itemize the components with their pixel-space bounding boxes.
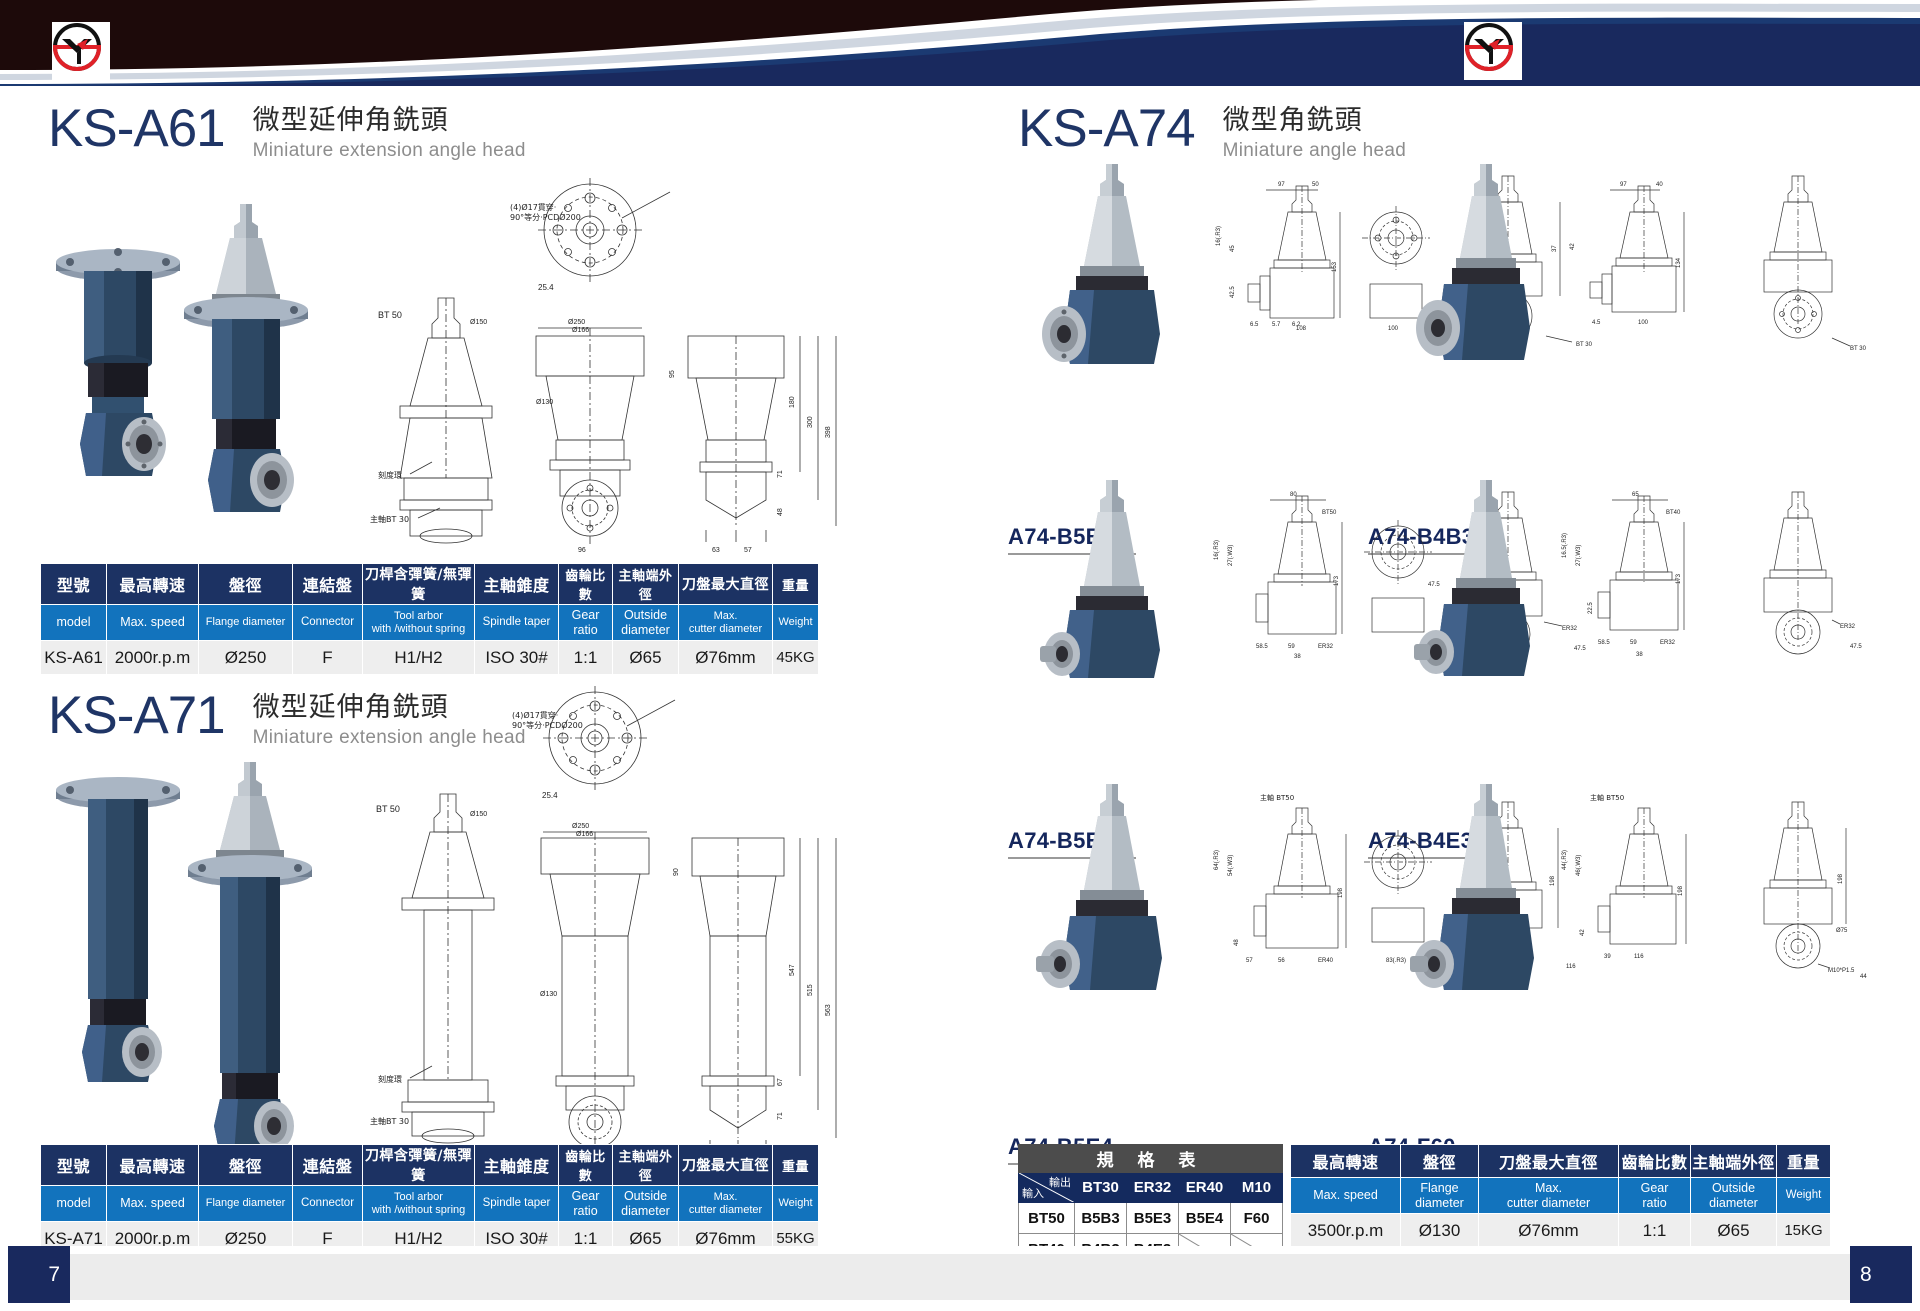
- header-cn-connector: 連結盤: [293, 1145, 363, 1186]
- table-header-row-en: Max. speed Flange diameter Max. cutter d…: [1291, 1178, 1831, 1214]
- header-cn-spindle-taper: 主軸錐度: [475, 564, 559, 605]
- product-title-ks-a74: KS-A74 微型角銑頭 Miniature angle head: [1018, 102, 1406, 162]
- value-max-cutter: Ø76mm: [679, 641, 773, 675]
- svg-text:153: 153: [1332, 261, 1338, 272]
- svg-text:63: 63: [712, 547, 720, 554]
- svg-text:80: 80: [1290, 492, 1297, 498]
- header-cn-tool-arbor: 刀桿含彈簧/無彈簧: [363, 1145, 475, 1186]
- svg-text:134: 134: [1676, 257, 1682, 268]
- svg-text:97: 97: [1278, 182, 1285, 188]
- variant-drawing-a74-f60: 主軸 BT50 198 44(.R3) 46(.W3) 42 116 39: [1560, 786, 1740, 1006]
- svg-text:Ø130: Ø130: [536, 399, 553, 406]
- svg-text:47.5: 47.5: [1850, 644, 1862, 650]
- header-banner: [0, 0, 1920, 86]
- spec-table-ks-a74: 最高轉速 盤徑 刀盤最大直徑 齒輪比數 主軸端外徑 重量 Max. speed …: [1290, 1144, 1831, 1248]
- value-model: KS-A61: [41, 641, 107, 675]
- table-header-row-cn: 最高轉速 盤徑 刀盤最大直徑 齒輪比數 主軸端外徑 重量: [1291, 1145, 1831, 1178]
- header-en-outside-dia: Outside diameter: [1691, 1178, 1777, 1214]
- header-cn-max-speed: 最高轉速: [1291, 1145, 1401, 1178]
- footer-bar: [60, 1254, 1860, 1300]
- svg-text:BT40: BT40: [1666, 510, 1681, 516]
- svg-text:Ø75: Ø75: [1836, 928, 1848, 934]
- svg-text:Ø250: Ø250: [568, 319, 585, 326]
- value-weight: 15KG: [1777, 1214, 1831, 1248]
- value-connector: F: [293, 641, 363, 675]
- product-name-cn: 微型延伸角銑頭: [253, 104, 526, 138]
- svg-text:刻度環: 刻度環: [378, 470, 402, 480]
- svg-text:398: 398: [825, 426, 832, 438]
- header-cn-spindle-taper: 主軸錐度: [475, 1145, 559, 1186]
- variant-drawing-a74-b4e3: 65 BT40 173 16.5(.R3) 27(.W3) 58.5 59 ER…: [1560, 486, 1740, 696]
- product-name-cn: 微型角銑頭: [1223, 104, 1406, 138]
- variant-photo-a74-b5b3: [1028, 158, 1208, 388]
- svg-text:100: 100: [1638, 320, 1649, 326]
- header-cn-gear-ratio: 齒輪比數: [559, 564, 613, 605]
- variant-drawing-a74-b4b3-side: BT 30: [1740, 166, 1910, 376]
- svg-text:6.5: 6.5: [1250, 322, 1259, 328]
- header-cn-model: 型號: [41, 1145, 107, 1186]
- header-en-flange: Flange diameter: [199, 1186, 293, 1222]
- spec-table-ks-a71: 型號 最高轉速 盤徑 連結盤 刀桿含彈簧/無彈簧 主軸錐度 齒輪比數 主軸端外徑…: [40, 1144, 819, 1256]
- technical-drawing-ks-a71: (4)Ø17貫穿‧ 90°等分‧PCDØ200 25.4 BT 50 刻度環 主…: [370, 686, 900, 1156]
- product-photo-ks-a61: [40, 176, 360, 556]
- header-en-max-speed: Max. speed: [107, 605, 199, 641]
- header-en-max-cutter: Max. cutter diameter: [679, 1186, 773, 1222]
- svg-text:58.5: 58.5: [1256, 644, 1268, 650]
- header-cn-weight: 重量: [773, 564, 819, 605]
- svg-text:116: 116: [1634, 954, 1644, 960]
- variant-photo-a74-b5e3: [1028, 474, 1208, 704]
- svg-text:180: 180: [789, 396, 796, 408]
- svg-text:300: 300: [807, 416, 814, 428]
- svg-text:Ø166: Ø166: [576, 831, 593, 838]
- svg-text:515: 515: [807, 984, 814, 996]
- page-number-left: 7: [8, 1246, 70, 1303]
- value-weight: 45KG: [773, 641, 819, 675]
- matrix-title: 規 格 表: [1019, 1145, 1283, 1173]
- matrix-col-m10: M10: [1231, 1173, 1283, 1203]
- header-en-outside-dia: Outside diameter: [613, 1186, 679, 1222]
- spec-table-ks-a61: 型號 最高轉速 盤徑 連結盤 刀桿含彈簧/無彈簧 主軸錐度 齒輪比數 主軸端外徑…: [40, 563, 819, 675]
- svg-text:22.5: 22.5: [1588, 602, 1594, 614]
- svg-text:173: 173: [1334, 575, 1340, 586]
- header-cn-max-cutter: 刀盤最大直徑: [1479, 1145, 1619, 1178]
- matrix-header-row: 輸出 輸入 BT30 ER32 ER40 M10: [1019, 1173, 1283, 1203]
- header-cn-gear-ratio: 齒輪比數: [1619, 1145, 1691, 1178]
- svg-text:90°等分‧PCDØ200: 90°等分‧PCDØ200: [512, 720, 583, 730]
- svg-text:Ø250: Ø250: [572, 823, 589, 830]
- header-cn-tool-arbor: 刀桿含彈簧/無彈簧: [363, 564, 475, 605]
- svg-text:刻度環: 刻度環: [378, 1074, 402, 1084]
- svg-text:198: 198: [1338, 887, 1344, 898]
- matrix-col-bt30: BT30: [1075, 1173, 1127, 1203]
- value-tool-arbor: H1/H2: [363, 641, 475, 675]
- svg-text:46(.W3): 46(.W3): [1576, 855, 1582, 876]
- right-page: KS-A74 微型角銑頭 Miniature angle head: [960, 86, 1920, 1246]
- header-en-max-cutter: Max. cutter diameter: [1479, 1178, 1619, 1214]
- variant-drawing-a74-f60-side: 198 Ø75 M10*P1.5 44: [1740, 782, 1910, 1002]
- variant-photo-a74-b5e4: [1028, 778, 1208, 1018]
- svg-text:71: 71: [777, 470, 784, 478]
- header-cn-max-speed: 最高轉速: [107, 564, 199, 605]
- svg-text:Ø166: Ø166: [572, 327, 589, 334]
- svg-text:90°等分‧PCDØ200: 90°等分‧PCDØ200: [510, 212, 581, 222]
- value-outside-dia: Ø65: [1691, 1214, 1777, 1248]
- header-en-flange: Flange diameter: [1401, 1178, 1479, 1214]
- header-cn-gear-ratio: 齒輪比數: [559, 1145, 613, 1186]
- matrix-axis-corner: 輸出 輸入: [1019, 1173, 1075, 1203]
- svg-text:59: 59: [1288, 644, 1295, 650]
- variant-photo-a74-f60: [1388, 778, 1568, 1018]
- svg-text:54(.W3): 54(.W3): [1228, 855, 1234, 876]
- company-logo-secondary: [1464, 22, 1522, 80]
- value-max-cutter: Ø76mm: [1479, 1214, 1619, 1248]
- product-code: KS-A74: [1018, 102, 1195, 155]
- header-en-max-speed: Max. speed: [1291, 1178, 1401, 1214]
- svg-text:27(.W3): 27(.W3): [1228, 545, 1234, 566]
- svg-text:25.4: 25.4: [542, 791, 558, 800]
- table-header-row-cn: 型號 最高轉速 盤徑 連結盤 刀桿含彈簧/無彈簧 主軸錐度 齒輪比數 主軸端外徑…: [41, 1145, 819, 1186]
- header-en-model: model: [41, 1186, 107, 1222]
- header-cn-flange: 盤徑: [199, 564, 293, 605]
- svg-text:5.7: 5.7: [1272, 322, 1281, 328]
- svg-text:4.5: 4.5: [1592, 320, 1601, 326]
- header-en-connector: Connector: [293, 605, 363, 641]
- logo-icon: [52, 22, 102, 72]
- svg-text:M10*P1.5: M10*P1.5: [1828, 968, 1855, 974]
- value-max-speed: 3500r.p.m: [1291, 1214, 1401, 1248]
- svg-text:27(.W3): 27(.W3): [1576, 545, 1582, 566]
- svg-text:38: 38: [1294, 654, 1301, 660]
- variant-drawing-a74-b4e3-side: ER32 47.5: [1740, 482, 1910, 692]
- value-outside-dia: Ø65: [613, 641, 679, 675]
- product-name-en: Miniature angle head: [1223, 140, 1406, 162]
- svg-text:主軸 BT50: 主軸 BT50: [1590, 793, 1624, 802]
- svg-text:67: 67: [777, 1078, 784, 1086]
- matrix-cell-b5e4: B5E4: [1179, 1203, 1231, 1234]
- header-cn-weight: 重量: [773, 1145, 819, 1186]
- table-row: KS-A61 2000r.p.m Ø250 F H1/H2 ISO 30# 1:…: [41, 641, 819, 675]
- header-cn-flange: 盤徑: [1401, 1145, 1479, 1178]
- header-cn-model: 型號: [41, 564, 107, 605]
- svg-text:108: 108: [1296, 326, 1307, 332]
- svg-text:(4)Ø17貫穿‧: (4)Ø17貫穿‧: [510, 202, 556, 212]
- svg-text:64(.R3): 64(.R3): [1214, 850, 1220, 870]
- header-en-tool-arbor: Tool arbor with /without spring: [363, 1186, 475, 1222]
- variant-drawing-a74-b4b3: 97 40 134 42 4.5 100: [1560, 176, 1740, 376]
- svg-text:16.5(.R3): 16.5(.R3): [1562, 533, 1568, 558]
- svg-text:16(.R3): 16(.R3): [1216, 226, 1222, 246]
- svg-text:Ø150: Ø150: [470, 811, 487, 818]
- product-code: KS-A61: [48, 102, 225, 155]
- svg-text:(4)Ø17貫穿‧: (4)Ø17貫穿‧: [512, 710, 558, 720]
- svg-text:ER32: ER32: [1318, 644, 1334, 650]
- header-en-spindle-taper: Spindle taper: [475, 1186, 559, 1222]
- table-row: 3500r.p.m Ø130 Ø76mm 1:1 Ø65 15KG: [1291, 1214, 1831, 1248]
- svg-text:主軸 BT50: 主軸 BT50: [1260, 793, 1294, 802]
- svg-text:BT 50: BT 50: [376, 804, 400, 814]
- value-flange: Ø130: [1401, 1214, 1479, 1248]
- svg-text:48: 48: [1234, 939, 1240, 946]
- svg-text:173: 173: [1676, 573, 1682, 584]
- svg-text:96: 96: [578, 547, 586, 554]
- svg-text:90: 90: [673, 868, 680, 876]
- company-logo: [52, 22, 110, 80]
- header-en-max-cutter: Max. cutter diameter: [679, 605, 773, 641]
- table-header-row-en: model Max. speed Flange diameter Connect…: [41, 1186, 819, 1222]
- svg-text:56: 56: [1278, 958, 1285, 964]
- header-cn-max-cutter: 刀盤最大直徑: [679, 564, 773, 605]
- header-en-gear-ratio: Gear ratio: [1619, 1178, 1691, 1214]
- svg-text:58.5: 58.5: [1598, 640, 1610, 646]
- svg-text:主軸BT 30: 主軸BT 30: [370, 514, 409, 524]
- logo-icon: [1464, 22, 1514, 72]
- header-en-spindle-taper: Spindle taper: [475, 605, 559, 641]
- banner-swoosh: [0, 0, 1920, 86]
- value-flange: Ø250: [199, 641, 293, 675]
- header-en-weight: Weight: [773, 605, 819, 641]
- header-cn-max-speed: 最高轉速: [107, 1145, 199, 1186]
- svg-text:44: 44: [1860, 974, 1867, 980]
- svg-text:65: 65: [1632, 492, 1639, 498]
- product-name-en: Miniature extension angle head: [253, 140, 526, 162]
- svg-text:25.4: 25.4: [538, 283, 554, 292]
- svg-text:BT50: BT50: [1322, 510, 1337, 516]
- svg-text:39: 39: [1604, 954, 1611, 960]
- variant-photo-a74-b4e3: [1388, 474, 1568, 704]
- header-cn-flange: 盤徑: [199, 1145, 293, 1186]
- svg-text:198: 198: [1678, 885, 1684, 896]
- variant-photo-a74-b4b3: [1388, 158, 1568, 388]
- product-title-ks-a61: KS-A61 微型延伸角銑頭 Miniature extension angle…: [48, 102, 526, 162]
- svg-text:ER32: ER32: [1660, 640, 1676, 646]
- svg-text:198: 198: [1838, 873, 1844, 884]
- header-en-model: model: [41, 605, 107, 641]
- matrix-cell-b5e3: B5E3: [1127, 1203, 1179, 1234]
- product-code: KS-A71: [48, 689, 225, 742]
- svg-text:97: 97: [1620, 182, 1627, 188]
- svg-text:57: 57: [1246, 958, 1253, 964]
- header-en-weight: Weight: [1777, 1178, 1831, 1214]
- header-cn-connector: 連結盤: [293, 564, 363, 605]
- value-max-speed: 2000r.p.m: [107, 641, 199, 675]
- svg-text:BT 30: BT 30: [1850, 346, 1867, 352]
- header-en-gear-ratio: Gear ratio: [559, 1186, 613, 1222]
- svg-text:48: 48: [777, 508, 784, 516]
- matrix-col-er40: ER40: [1179, 1173, 1231, 1203]
- technical-drawing-ks-a61: (4)Ø17貫穿‧ 90°等分‧PCDØ200 25.4 BT 50 刻度環 主…: [370, 178, 900, 568]
- svg-text:44(.R3): 44(.R3): [1562, 850, 1568, 870]
- svg-text:45: 45: [1230, 245, 1236, 252]
- value-gear-ratio: 1:1: [559, 641, 613, 675]
- svg-text:ER40: ER40: [1318, 958, 1334, 964]
- svg-text:BT 50: BT 50: [378, 310, 402, 320]
- left-page: KS-A61 微型延伸角銑頭 Miniature extension angle…: [0, 86, 960, 1246]
- svg-text:Ø130: Ø130: [540, 991, 557, 998]
- page-number-right: 8: [1850, 1246, 1912, 1303]
- header-cn-outside-dia: 主軸端外徑: [613, 1145, 679, 1186]
- header-en-connector: Connector: [293, 1186, 363, 1222]
- header-cn-max-cutter: 刀盤最大直徑: [679, 1145, 773, 1186]
- svg-text:547: 547: [789, 964, 796, 976]
- table-header-row-en: model Max. speed Flange diameter Connect…: [41, 605, 819, 641]
- svg-text:40: 40: [1656, 182, 1663, 188]
- header-cn-weight: 重量: [1777, 1145, 1831, 1178]
- svg-text:38: 38: [1636, 652, 1643, 658]
- header-cn-outside-dia: 主軸端外徑: [613, 564, 679, 605]
- svg-text:563: 563: [825, 1004, 832, 1016]
- matrix-col-er32: ER32: [1127, 1173, 1179, 1203]
- header-en-weight: Weight: [773, 1186, 819, 1222]
- matrix-title-row: 規 格 表: [1019, 1145, 1283, 1173]
- matrix-row-input-bt50: BT50: [1019, 1203, 1075, 1234]
- header-en-gear-ratio: Gear ratio: [559, 605, 613, 641]
- svg-text:59: 59: [1630, 640, 1637, 646]
- svg-text:主軸BT 30: 主軸BT 30: [370, 1116, 409, 1126]
- svg-text:42: 42: [1570, 243, 1576, 250]
- value-spindle-taper: ISO 30#: [475, 641, 559, 675]
- table-header-row-cn: 型號 最高轉速 盤徑 連結盤 刀桿含彈簧/無彈簧 主軸錐度 齒輪比數 主軸端外徑…: [41, 564, 819, 605]
- header-en-flange: Flange diameter: [199, 605, 293, 641]
- value-gear-ratio: 1:1: [1619, 1214, 1691, 1248]
- header-cn-outside-dia: 主軸端外徑: [1691, 1145, 1777, 1178]
- header-en-tool-arbor: Tool arbor with /without spring: [363, 605, 475, 641]
- header-en-max-speed: Max. speed: [107, 1186, 199, 1222]
- matrix-row-bt50: BT50 B5B3 B5E3 B5E4 F60: [1019, 1203, 1283, 1234]
- svg-text:Ø150: Ø150: [470, 319, 487, 326]
- matrix-cell-b5b3: B5B3: [1075, 1203, 1127, 1234]
- svg-text:95: 95: [669, 370, 676, 378]
- svg-text:ER32: ER32: [1840, 624, 1856, 630]
- svg-text:57: 57: [744, 547, 752, 554]
- matrix-axis-output: 輸出: [1049, 1174, 1071, 1190]
- svg-text:42: 42: [1580, 929, 1586, 936]
- svg-text:16(.R3): 16(.R3): [1214, 540, 1220, 560]
- svg-text:50: 50: [1312, 182, 1319, 188]
- svg-text:71: 71: [777, 1112, 784, 1120]
- header-en-outside-dia: Outside diameter: [613, 605, 679, 641]
- matrix-cell-f60: F60: [1231, 1203, 1283, 1234]
- svg-text:42.5: 42.5: [1230, 286, 1236, 298]
- matrix-axis-input: 輸入: [1022, 1185, 1044, 1201]
